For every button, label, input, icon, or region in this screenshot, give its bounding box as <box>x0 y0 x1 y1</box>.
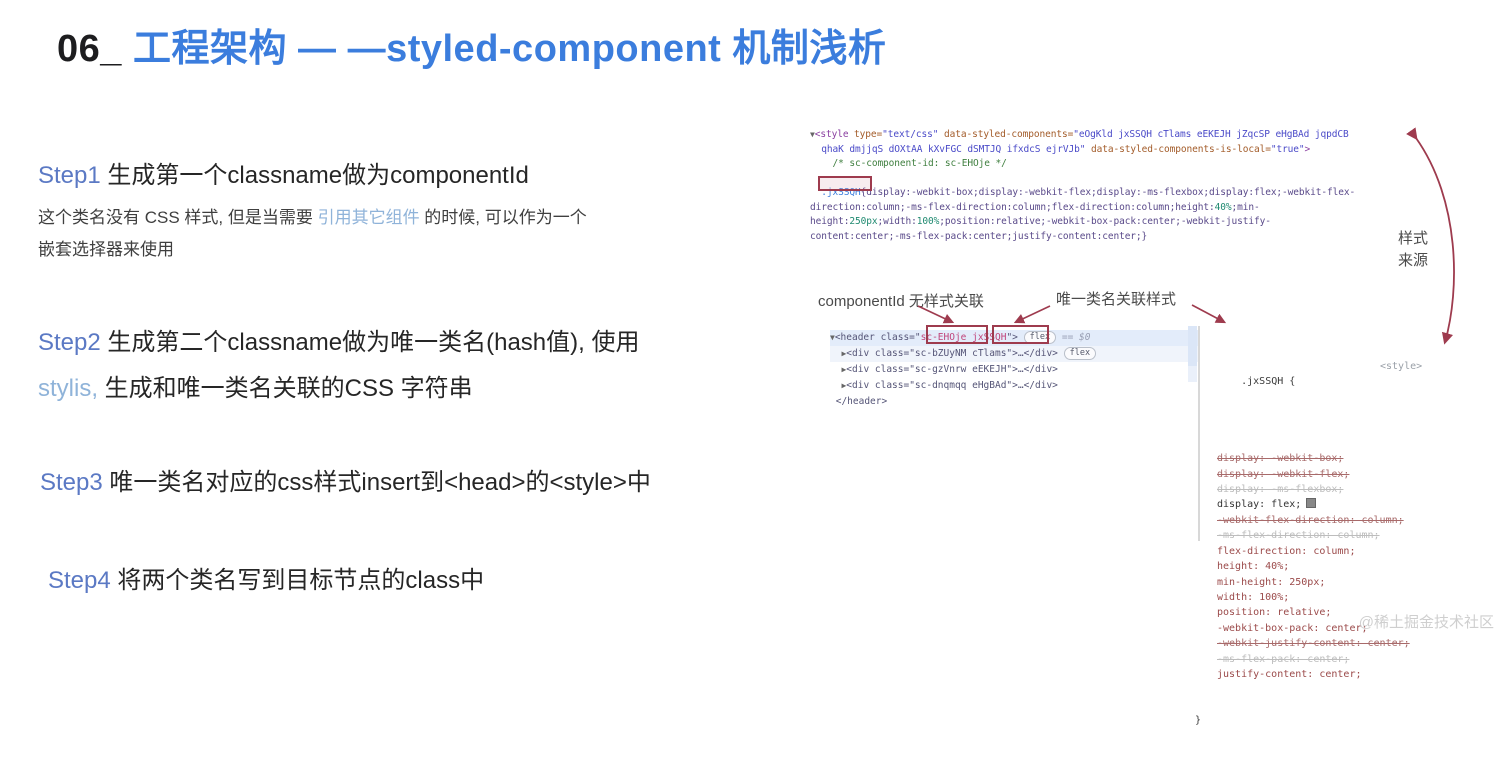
page-title-number: 06_ <box>57 28 122 70</box>
rules-pane-left-edge <box>1188 326 1197 366</box>
dom-header-close-tag: </header> <box>836 396 887 407</box>
step-2: Step2 生成第二个classname做为唯一类名(hash值), 使用 st… <box>38 327 639 406</box>
dom-div-1-text: <div class="sc-bZUyNM cTlams">…</div> <box>846 348 1058 359</box>
step-4-label: Step4 <box>48 567 111 594</box>
step-2-heading: Step2 生成第二个classname做为唯一类名(hash值), 使用 <box>38 327 639 359</box>
styled-components-value-line2: qhaK dmjjqS dOXtAA kXvFGC dSMTJQ ifxdcS … <box>821 144 1085 155</box>
css-declaration[interactable]: justify-content: center; <box>1205 667 1495 682</box>
dom-div-3-text: <div class="sc-dnqmqq eHgBAd">…</div> <box>846 380 1058 391</box>
jxssqh-selector-highlight-box <box>818 176 872 191</box>
step-3-label: Step3 <box>40 469 103 496</box>
styled-components-value-line1: "eOgKld jxSSQH cTlams eEKEJH jZqcSP eHgB… <box>1073 129 1348 140</box>
css-declaration[interactable]: flex-direction: column; <box>1205 544 1495 559</box>
rules-selector: .jxSSQH { <box>1241 376 1295 387</box>
style-open-tag: <style <box>815 129 849 140</box>
step-3-title: 唯一类名对应的css样式insert到<head>的<style>中 <box>103 469 651 496</box>
jxssqh-height-value: 40% <box>1215 202 1232 213</box>
rules-close-brace: } <box>1195 713 1495 728</box>
style-type-attr: type= <box>848 129 882 140</box>
annotation-componentid: componentId 无样式关联 <box>818 290 984 311</box>
hash-class-highlight-box <box>992 325 1049 344</box>
css-declaration-text: display: -webkit-flex; <box>1217 469 1349 480</box>
css-declaration-text: -webkit-box-pack: center; <box>1217 623 1368 634</box>
style-type-value: "text/css" <box>882 129 938 140</box>
flex-layout-badge-icon[interactable] <box>1306 498 1316 508</box>
watermark: @稀土掘金技术社区 <box>1359 611 1494 632</box>
jxssqh-css-line1: {display:-webkit-box;display:-webkit-fle… <box>861 187 1356 198</box>
css-declaration[interactable]: display: -webkit-flex; <box>1205 467 1495 482</box>
step-1-heading: Step1 生成第一个classname做为componentId <box>38 160 587 192</box>
css-declaration[interactable]: display: -ms-flexbox; <box>1205 482 1495 497</box>
step-2-line2: stylis, 生成和唯一类名关联的CSS 字符串 <box>38 373 639 405</box>
page-title-text: 工程架构 — —styled-component 机制浅析 <box>122 28 886 70</box>
annotation-unique-class: 唯一类名关联样式 <box>1056 288 1176 309</box>
css-declaration-text: min-height: 250px; <box>1217 577 1325 588</box>
jxssqh-css-line2-tail: ;min- <box>1231 202 1259 213</box>
css-declaration-text: display: flex; <box>1217 499 1301 510</box>
css-declaration-text: flex-direction: column; <box>1217 546 1355 557</box>
componentid-highlight-box <box>926 325 988 344</box>
selected-node-ref: == $0 <box>1062 332 1091 343</box>
devtools-screenshot: ▼<style type="text/css" data-styled-comp… <box>800 120 1500 580</box>
css-declaration-list: display: -webkit-box;display: -webkit-fl… <box>1205 451 1495 682</box>
styled-components-attr: data-styled-components= <box>938 129 1073 140</box>
css-declaration[interactable]: -ms-flex-pack: center; <box>1205 652 1495 667</box>
step-3-heading: Step3 唯一类名对应的css样式insert到<head>的<style>中 <box>40 467 651 499</box>
annotation-style-source: 样式 来源 <box>1398 228 1428 272</box>
step-4-title: 将两个类名写到目标节点的class中 <box>111 567 484 594</box>
css-declaration[interactable]: width: 100%; <box>1205 590 1495 605</box>
css-declaration[interactable]: display: -webkit-box; <box>1205 451 1495 466</box>
dom-row-div-1[interactable]: ▶<div class="sc-bZUyNM cTlams">…</div> f… <box>830 346 1200 362</box>
step-2-title: 生成第二个classname做为唯一类名(hash值), 使用 <box>101 329 640 356</box>
css-declaration[interactable]: min-height: 250px; <box>1205 575 1495 590</box>
style-open-tag-close: > <box>1305 144 1311 155</box>
css-declaration-text: display: -ms-flexbox; <box>1217 484 1343 495</box>
step-4: Step4 将两个类名写到目标节点的class中 <box>48 565 484 597</box>
dom-header-open: <header class=" <box>835 332 921 343</box>
step-1-description: 这个类名没有 CSS 样式, 但是当需要 引用其它组件 的时候, 可以作为一个 … <box>38 202 587 265</box>
jxssqh-minheight-value: 250px <box>849 216 877 227</box>
rules-pane-scrollbar[interactable] <box>1198 326 1200 541</box>
jxssqh-css-line3a: height: <box>810 216 849 227</box>
css-declaration[interactable]: height: 40%; <box>1205 559 1495 574</box>
step-1: Step1 生成第一个classname做为componentId 这个类名没有… <box>38 160 587 265</box>
css-declaration-text: height: 40%; <box>1217 561 1289 572</box>
css-declaration[interactable]: -webkit-flex-direction: column; <box>1205 513 1495 528</box>
step-1-title: 生成第一个classname做为componentId <box>101 162 529 189</box>
step-1-desc-part1: 这个类名没有 CSS 样式, 但是当需要 <box>38 208 318 227</box>
jxssqh-css-line2: direction:column;-ms-flex-direction:colu… <box>810 202 1215 213</box>
arrow-to-rules-pane <box>1192 305 1224 322</box>
css-declaration-text: position: relative; <box>1217 607 1331 618</box>
css-declaration-text: -ms-flex-pack: center; <box>1217 654 1349 665</box>
css-declaration[interactable]: -ms-flex-direction: column; <box>1205 528 1495 543</box>
jxssqh-css-line4: content:center;-ms-flex-pack:center;just… <box>810 231 1147 242</box>
jxssqh-width-value: 100% <box>917 216 939 227</box>
step-1-desc-link[interactable]: 引用其它组件 <box>318 208 420 227</box>
css-declaration-text: -ms-flex-direction: column; <box>1217 530 1380 541</box>
step-1-desc-line2: 嵌套选择器来使用 <box>38 240 174 259</box>
css-rules-pane: .jxSSQH { <style> display: -webkit-box;d… <box>1205 328 1495 759</box>
step-4-heading: Step4 将两个类名写到目标节点的class中 <box>48 565 484 597</box>
css-declaration-text: display: -webkit-box; <box>1217 453 1343 464</box>
css-declaration[interactable]: -webkit-justify-content: center; <box>1205 636 1495 651</box>
step-1-desc-part2: 的时候, 可以作为一个 <box>420 208 587 227</box>
is-local-value: "true" <box>1271 144 1305 155</box>
jxssqh-css-line3b: ;width: <box>877 216 916 227</box>
page-title: 06_ 工程架构 — —styled-component 机制浅析 <box>57 17 886 72</box>
sc-component-id-comment: /* sc-component-id: sc-EHOje */ <box>832 158 1006 169</box>
rules-source-style: <style> <box>1380 359 1422 374</box>
flex-badge-div-1[interactable]: flex <box>1064 347 1096 360</box>
is-local-attr: data-styled-components-is-local= <box>1085 144 1270 155</box>
arrow-unique-class <box>1016 306 1050 322</box>
jxssqh-css-line3c: ;position:relative;-webkit-box-pack:cent… <box>939 216 1271 227</box>
css-declaration-text: width: 100%; <box>1217 592 1289 603</box>
style-source-pane: ▼<style type="text/css" data-styled-comp… <box>810 128 1430 244</box>
css-declaration-text: justify-content: center; <box>1217 669 1362 680</box>
step-2-line2-rest: 生成和唯一类名关联的CSS 字符串 <box>98 375 473 402</box>
step-3: Step3 唯一类名对应的css样式insert到<head>的<style>中 <box>40 467 651 499</box>
step-2-stylis-link[interactable]: stylis, <box>38 375 98 402</box>
dom-div-2-text: <div class="sc-gzVnrw eEKEJH">…</div> <box>846 364 1058 375</box>
css-declaration[interactable]: display: flex; <box>1205 497 1495 512</box>
rules-pane-left-edge-2 <box>1188 366 1197 382</box>
step-2-label: Step2 <box>38 329 101 356</box>
css-declaration-text: -webkit-flex-direction: column; <box>1217 515 1404 526</box>
step-1-label: Step1 <box>38 162 101 189</box>
